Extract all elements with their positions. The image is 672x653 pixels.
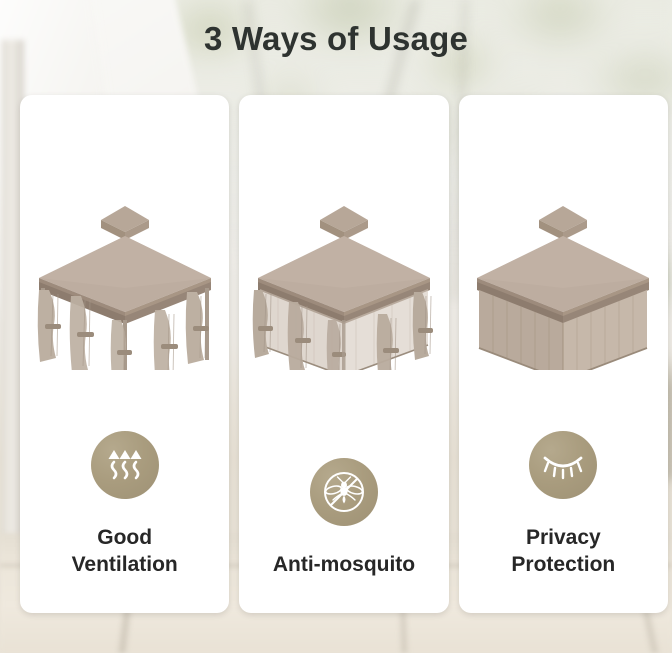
infographic-canvas: 3 Ways of Usage [0, 0, 672, 653]
no-mosquito-icon [310, 458, 378, 526]
card-label: Anti-mosquito [239, 552, 448, 579]
airflow-arrows-glyph [104, 444, 146, 486]
gazebo-closed-illustration [463, 190, 663, 370]
usage-card-privacy-protection[interactable]: Privacy Protection [459, 95, 668, 613]
feature-block: Good Ventilation [20, 431, 229, 579]
usage-card-anti-mosquito[interactable]: Anti-mosquito [239, 95, 448, 613]
feature-block: Anti-mosquito [239, 458, 448, 579]
closed-eye-glyph [541, 448, 585, 482]
gazebo-open-illustration [25, 190, 225, 370]
card-label-line: Ventilation [28, 552, 221, 579]
feature-block: Privacy Protection [459, 431, 668, 579]
no-mosquito-glyph [321, 469, 367, 515]
closed-eye-icon [529, 431, 597, 499]
card-label-line: Protection [467, 552, 660, 579]
gazebo-image-closed [459, 155, 668, 405]
card-label-line: Privacy [467, 525, 660, 552]
card-label-line: Anti-mosquito [247, 552, 440, 579]
usage-card-list: Good Ventilation [20, 95, 668, 613]
card-label: Privacy Protection [459, 525, 668, 579]
page-title: 3 Ways of Usage [0, 20, 672, 58]
card-label: Good Ventilation [20, 525, 229, 579]
gazebo-image-mesh [239, 155, 448, 405]
card-label-line: Good [28, 525, 221, 552]
gazebo-image-open [20, 155, 229, 405]
gazebo-mesh-illustration [244, 190, 444, 370]
airflow-arrows-icon [91, 431, 159, 499]
usage-card-good-ventilation[interactable]: Good Ventilation [20, 95, 229, 613]
